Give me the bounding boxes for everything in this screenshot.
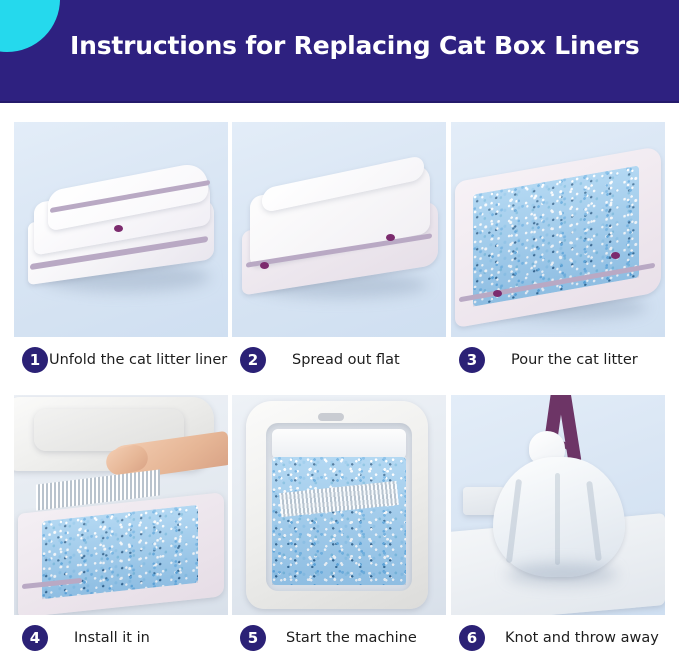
accent-circle-decoration: [0, 0, 60, 52]
step-number-badge-5: 5: [240, 625, 266, 651]
step-caption-3: 3 Pour the cat litter: [451, 337, 665, 383]
drawstring-knob-left: [260, 262, 269, 269]
step-number-badge-3: 3: [459, 347, 485, 373]
step-image-2: [232, 122, 446, 337]
blue-litter-fill: [272, 457, 406, 585]
blue-litter-fill: [42, 505, 198, 599]
step-image-4: [14, 395, 228, 615]
step-card-2: 2 Spread out flat: [232, 122, 446, 383]
step-card-6: 6 Knot and throw away: [451, 395, 665, 661]
step-caption-2: 2 Spread out flat: [232, 337, 446, 383]
step-card-1: 1 Unfold the cat litter liner: [14, 122, 228, 383]
step-label-2: Spread out flat: [292, 352, 400, 368]
page-header: Instructions for Replacing Cat Box Liner…: [0, 0, 679, 103]
step-number-badge-6: 6: [459, 625, 485, 651]
step-label-6: Knot and throw away: [505, 630, 659, 646]
step-card-5: 5 Start the machine: [232, 395, 446, 661]
drawstring-knob-right: [611, 252, 620, 259]
step-caption-4: 4 Install it in: [14, 615, 228, 661]
step-number-badge-1: 1: [22, 347, 48, 373]
steps-grid: 1 Unfold the cat litter liner 2 Spread o…: [0, 103, 679, 653]
step-card-4: 4 Install it in: [14, 395, 228, 661]
step-image-3: [451, 122, 665, 337]
step-label-1: Unfold the cat litter liner: [49, 352, 227, 368]
litter-shading: [42, 505, 198, 599]
step-label-3: Pour the cat litter: [511, 352, 638, 368]
step-card-3: 3 Pour the cat litter: [451, 122, 665, 383]
drawstring-knob-right: [386, 234, 395, 241]
bag-fold-crease-center: [555, 473, 560, 565]
step-number-badge-4: 4: [22, 625, 48, 651]
drawstring-knob-left: [493, 290, 502, 297]
step-caption-5: 5 Start the machine: [232, 615, 446, 661]
machine-indicator-button[interactable]: [318, 413, 344, 421]
step-caption-1: 1 Unfold the cat litter liner: [14, 337, 228, 383]
step-label-4: Install it in: [74, 630, 150, 646]
step-image-5: [232, 395, 446, 615]
litter-shading: [272, 457, 406, 585]
machine-back-panel: [272, 429, 406, 459]
step-number-badge-2: 2: [240, 347, 266, 373]
step-image-6: [451, 395, 665, 615]
object-shadow: [507, 563, 617, 585]
drawstring-knob: [114, 225, 123, 232]
step-label-5: Start the machine: [286, 630, 417, 646]
step-image-1: [14, 122, 228, 337]
page-title: Instructions for Replacing Cat Box Liner…: [70, 31, 640, 60]
step-caption-6: 6 Knot and throw away: [451, 615, 665, 661]
